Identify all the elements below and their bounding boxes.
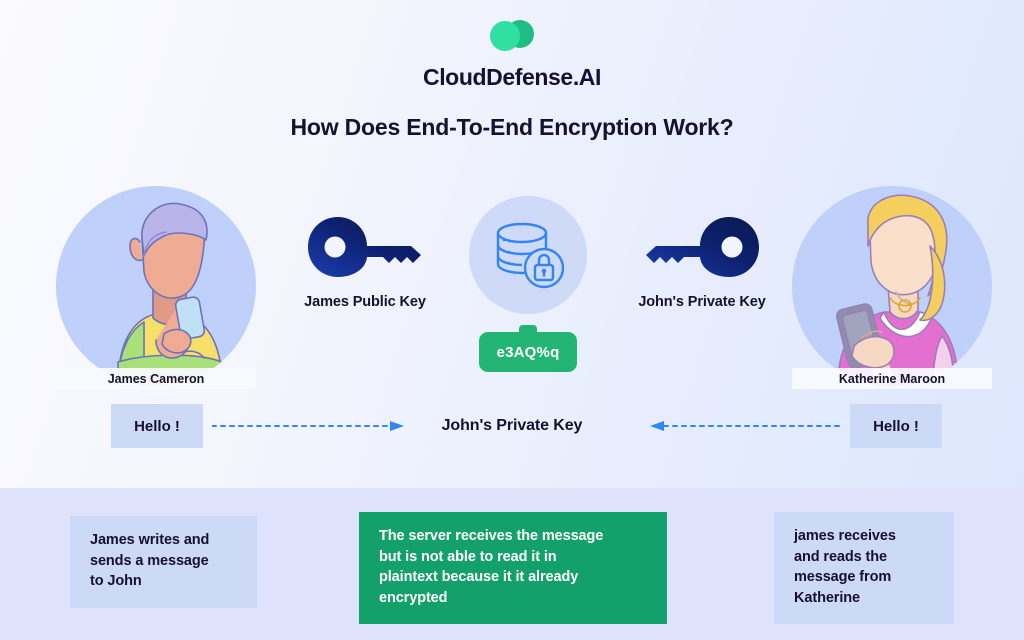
page-title: How Does End-To-End Encryption Work? [0,114,1024,141]
diagram-stage: James Cameron James Public Key [0,186,1024,396]
recipient-name: Katherine Maroon [792,368,992,389]
message-flow-row: Hello ! John's Private Key Hello ! [0,404,1024,448]
james-public-key-block: James Public Key [275,216,455,310]
sender-name: James Cameron [56,368,256,389]
sender-block: James Cameron [56,186,256,386]
flow-center-label: John's Private Key [412,404,612,448]
message-box-recipient: Hello ! [850,404,942,448]
caption-step-1: James writes and sends a message to John [70,516,257,608]
caption-step-3: james receives and reads the message fro… [774,512,954,624]
recipient-block: Katherine Maroon [792,186,992,386]
brand-name: CloudDefense.AI [0,64,1024,91]
woman-with-phone-avatar [792,186,992,386]
caption-step-2: The server receives the message but is n… [359,512,667,624]
key-icon [644,216,760,278]
johns-private-key-block: John's Private Key [612,216,792,310]
person-with-phone-avatar [56,186,256,386]
flow-arrow-left-icon [624,421,842,431]
infographic-canvas: CloudDefense.AI How Does End-To-End Encr… [0,0,1024,640]
database-lock-icon [489,216,567,294]
flow-arrow-right-icon [212,421,408,431]
brand-header: CloudDefense.AI [0,14,1024,91]
message-box-sender: Hello ! [111,404,203,448]
key-icon [307,216,423,278]
cloud-logo-icon [482,14,542,58]
server-block: e3AQ%q [462,196,594,372]
johns-private-key-label: John's Private Key [612,294,792,310]
james-public-key-label: James Public Key [275,294,455,310]
ciphertext-badge: e3AQ%q [479,332,577,372]
server-circle [469,196,587,314]
